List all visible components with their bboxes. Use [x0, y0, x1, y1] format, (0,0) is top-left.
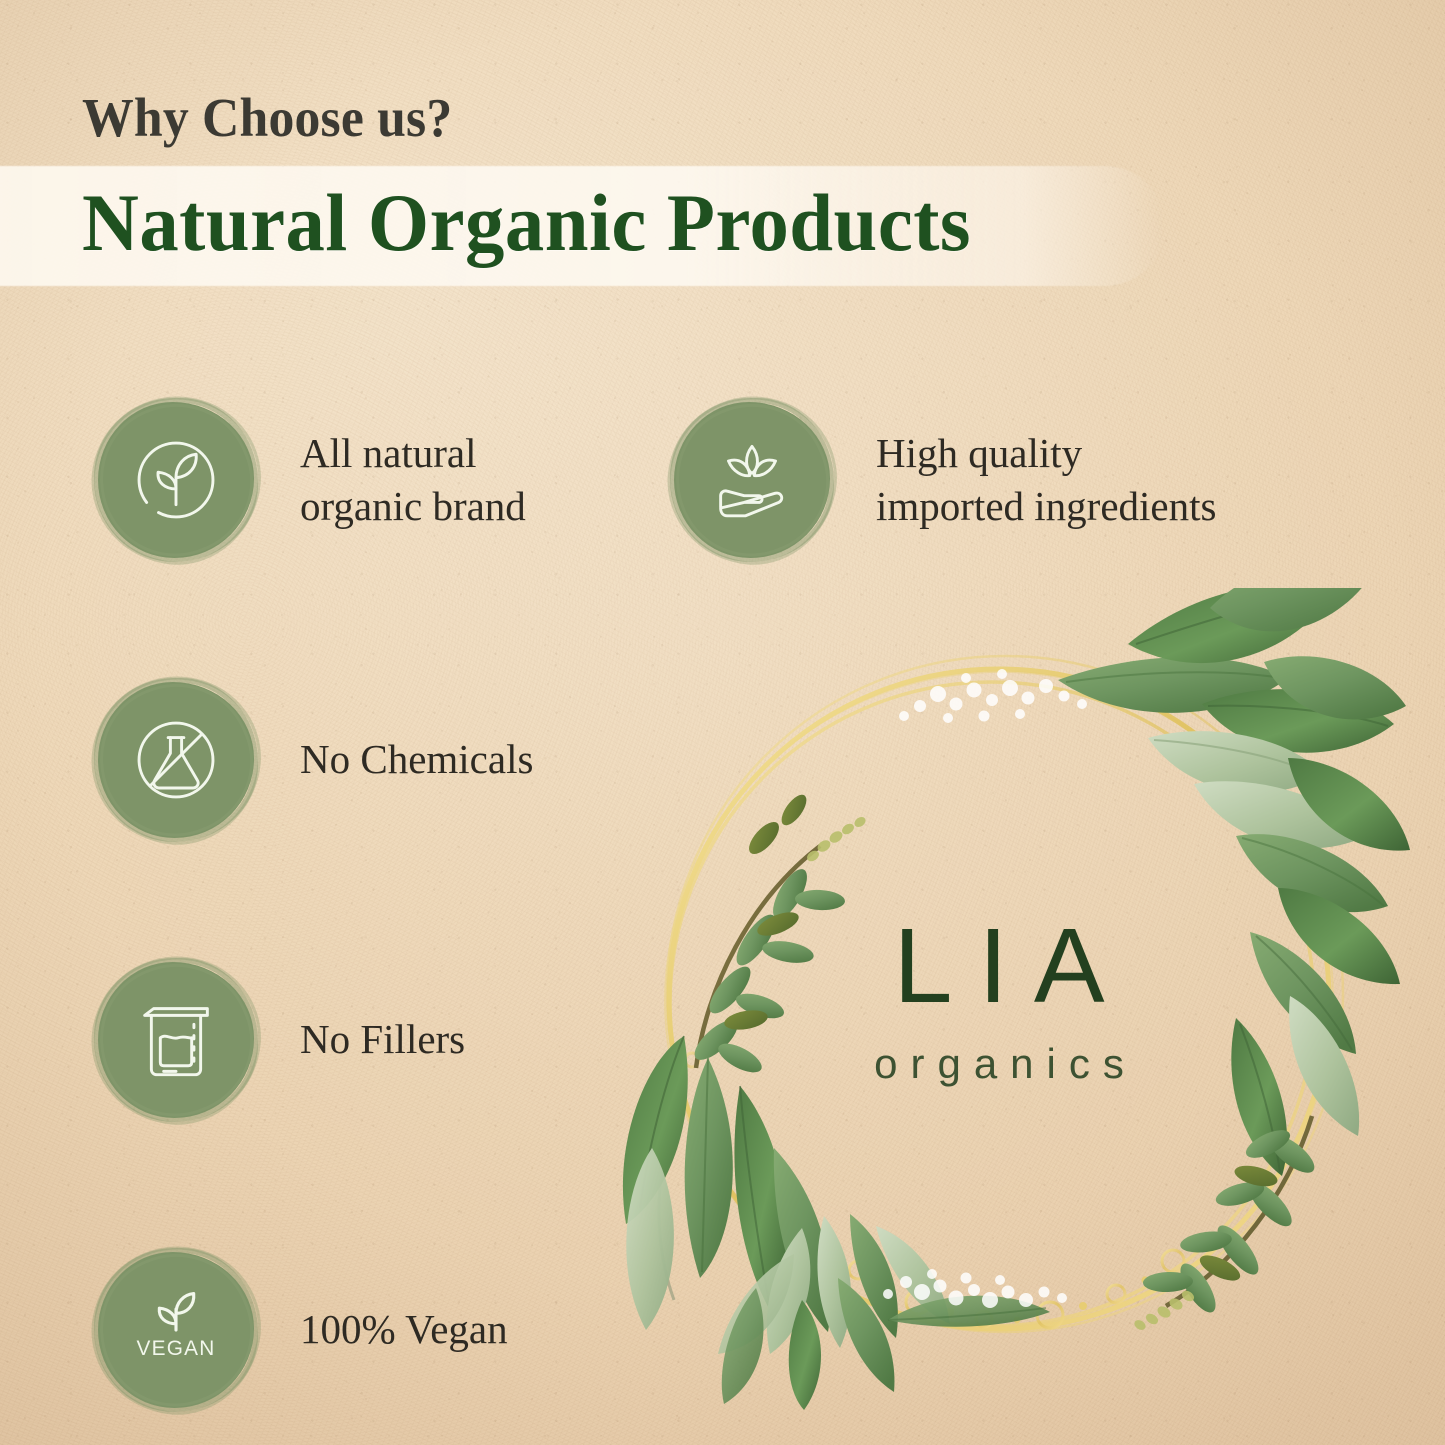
feature-badge: [92, 956, 260, 1124]
feature-badge: [92, 396, 260, 564]
feature-item-high-quality: High quality imported ingredients: [668, 396, 1216, 564]
page-title: Natural Organic Products: [82, 176, 971, 270]
feature-item-all-natural: All natural organic brand: [92, 396, 526, 564]
feature-item-no-chemicals: No Chemicals: [92, 676, 533, 844]
hand-holding-leaves-icon: [696, 424, 808, 536]
feature-label: All natural organic brand: [300, 427, 526, 534]
vegan-caption-text: VEGAN: [136, 1337, 215, 1360]
feature-badge: [92, 676, 260, 844]
vegan-sprout-icon: VEGAN: [124, 1278, 228, 1382]
feature-label: High quality imported ingredients: [876, 427, 1216, 534]
feature-badge: VEGAN: [92, 1246, 260, 1414]
feature-label: No Fillers: [300, 1013, 465, 1066]
wreath-bud-cluster-upper-left: [805, 815, 867, 864]
feature-label: 100% Vegan: [300, 1303, 508, 1356]
wreath-leaves-right: [1058, 588, 1410, 1176]
wreath-accent-leaves-left: [744, 791, 811, 859]
feature-label: No Chemicals: [300, 733, 533, 786]
feature-item-no-fillers: No Fillers: [92, 956, 465, 1124]
feature-badge: [668, 396, 836, 564]
kicker-text: Why Choose us?: [82, 86, 452, 149]
poster-canvas: Why Choose us? Natural Organic Products …: [0, 0, 1445, 1445]
floral-wreath-logo-artwork: [588, 588, 1410, 1410]
no-chemicals-flask-icon: [120, 704, 232, 816]
wreath-sprig-upper-left: [689, 815, 868, 1078]
beaker-icon: [120, 984, 232, 1096]
sprout-in-circle-icon: [120, 424, 232, 536]
feature-item-vegan: VEGAN 100% Vegan: [92, 1246, 508, 1414]
